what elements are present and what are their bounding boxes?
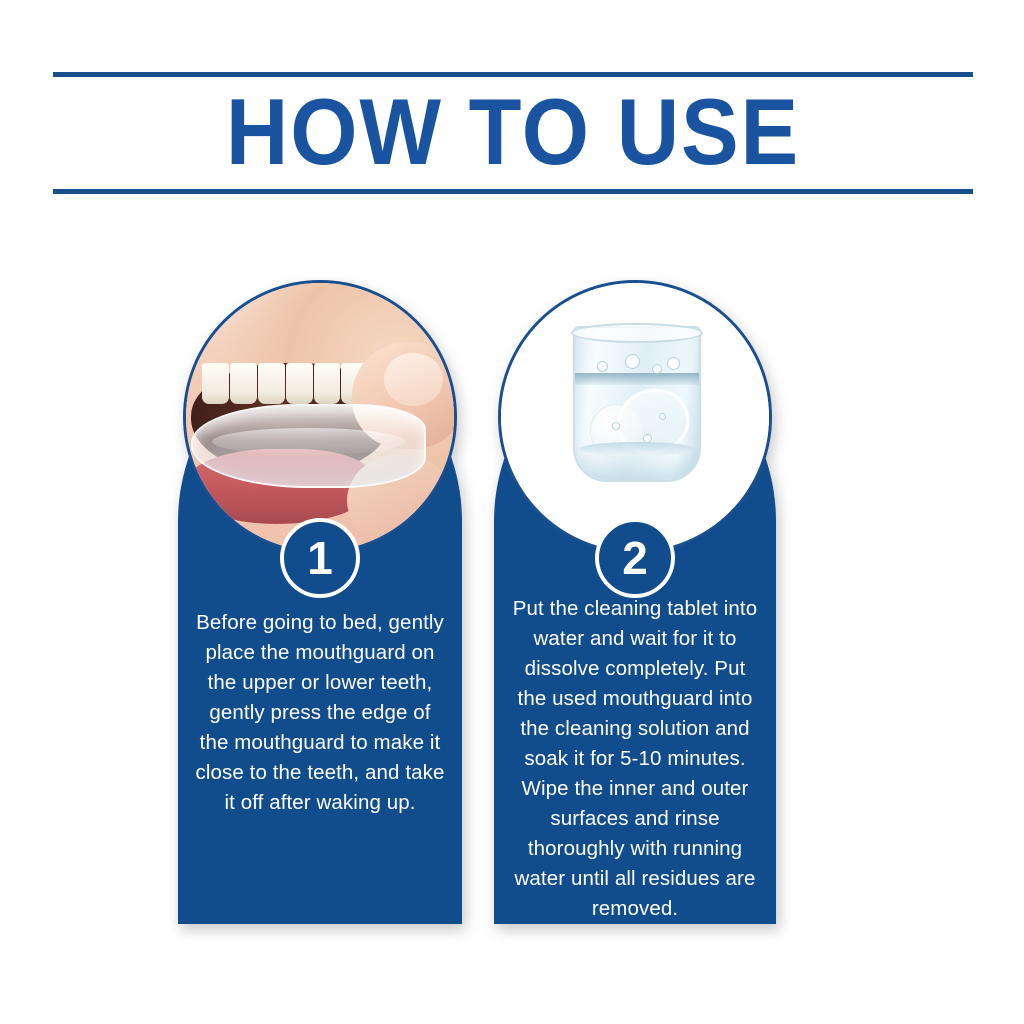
title-rule-top [53, 72, 973, 77]
step-image-1 [183, 280, 457, 554]
step-text-1: Before going to bed, gently place the mo… [194, 608, 446, 818]
title-rule-bottom [53, 189, 973, 194]
step-text-2: Put the cleaning tablet into water and w… [510, 594, 760, 924]
header: HOW TO USE [53, 72, 973, 194]
mouthguard-photo-icon [186, 283, 454, 551]
step-badge-1: 1 [280, 518, 360, 598]
step-card-2: 2 Put the cleaning tablet into water and… [494, 278, 776, 924]
page-title: HOW TO USE [90, 80, 936, 184]
steps-container: 1 Before going to bed, gently place the … [0, 278, 1024, 938]
step-card-1: 1 Before going to bed, gently place the … [178, 278, 462, 924]
step-badge-2: 2 [595, 518, 675, 598]
glass-of-water-photo-icon [501, 283, 769, 551]
step-image-2 [498, 280, 772, 554]
